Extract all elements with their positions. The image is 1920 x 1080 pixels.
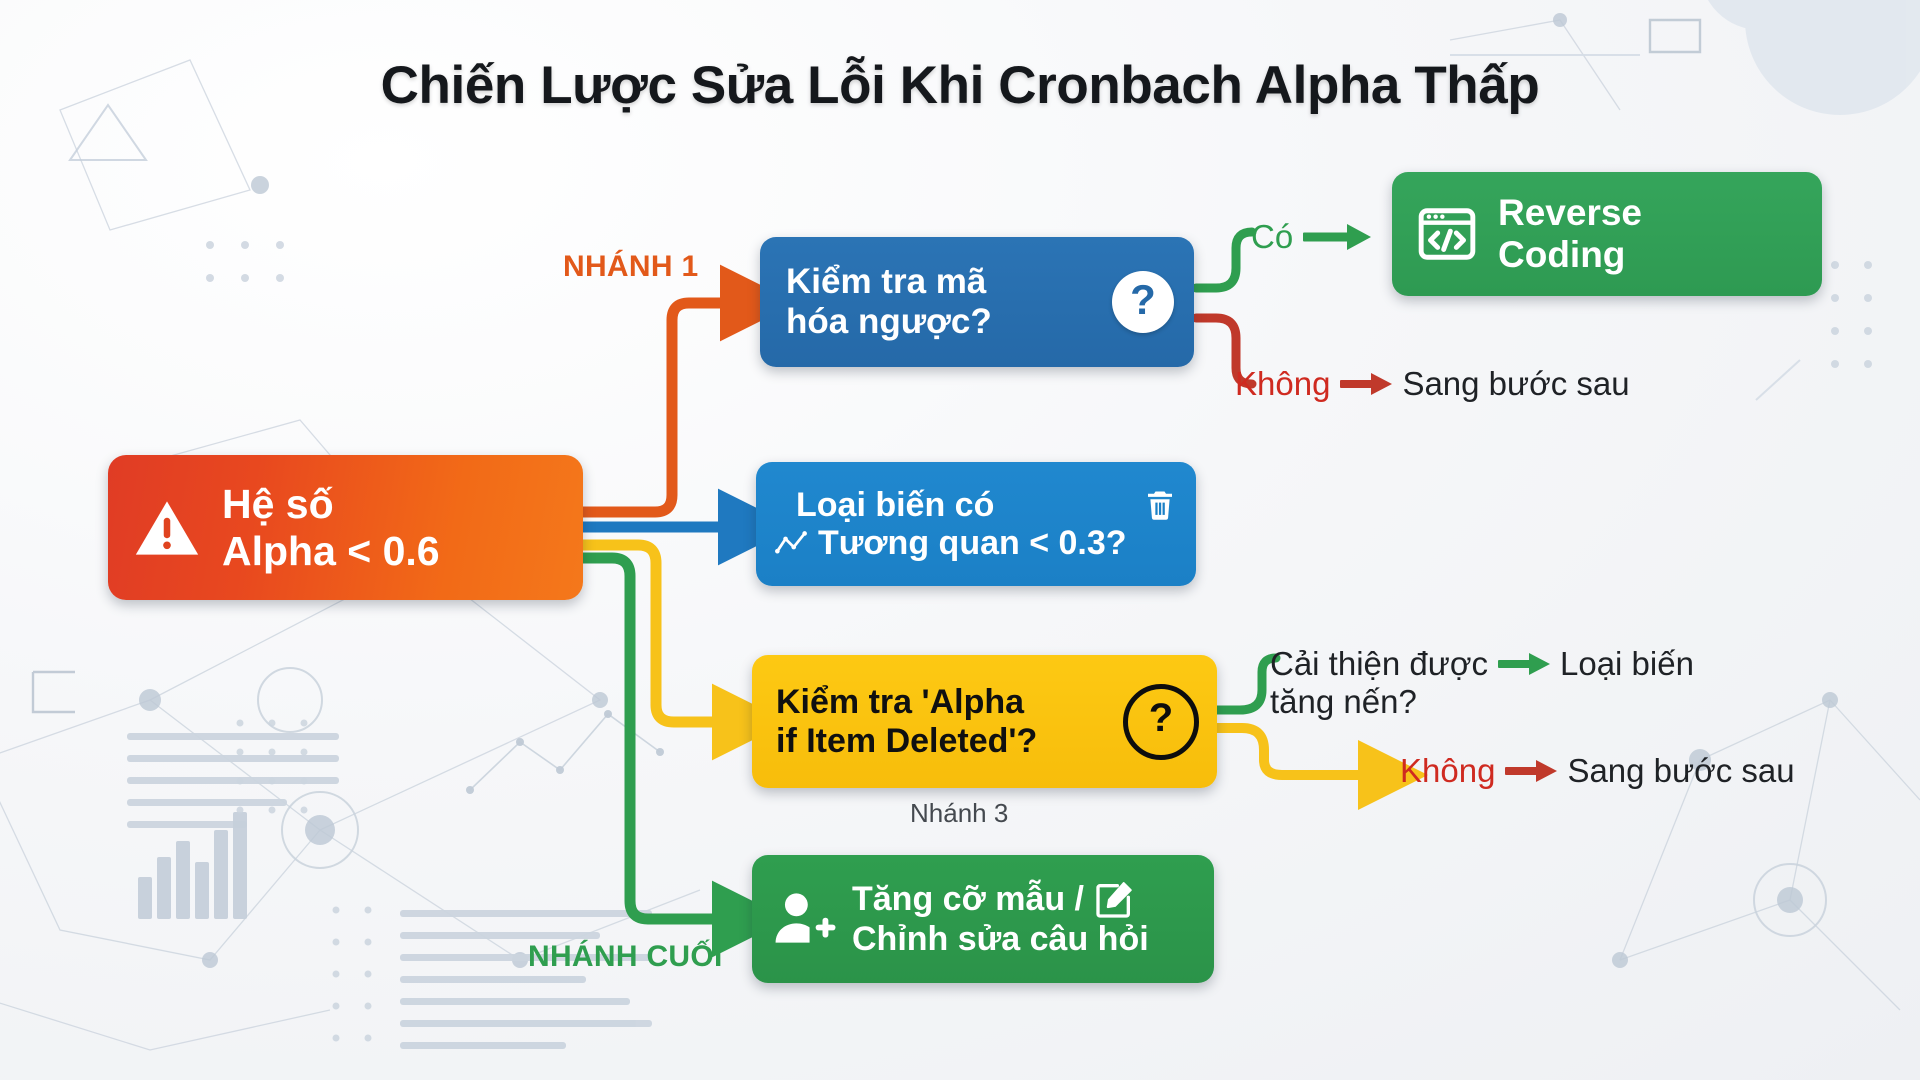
annotation-q3-yes: Cải thiện được Loại biến tăng nến? xyxy=(1270,645,1694,721)
node-start-alpha-low[interactable]: Hệ số Alpha < 0.6 xyxy=(108,455,583,600)
node-q1-label: Kiểm tra mã hóa ngược? xyxy=(786,262,992,342)
question-circle-icon: ? xyxy=(1112,271,1174,333)
annotation-q1-no: Không Sang bước sau xyxy=(1235,365,1630,403)
trash-icon xyxy=(1142,487,1178,523)
node-remove-low-correlation[interactable]: Loại biến có xyxy=(756,462,1196,586)
node-q1-line2: hóa ngược? xyxy=(786,302,992,341)
node-out1-line1: Reverse xyxy=(1498,192,1642,233)
node-reverse-coding[interactable]: Reverse Coding xyxy=(1392,172,1822,296)
annotation-q1-yes: Có xyxy=(1251,218,1371,256)
branch-label-3: Nhánh 3 xyxy=(910,798,1008,829)
annotation-q3-no: Không Sang bước sau xyxy=(1400,752,1795,790)
node-q2-row1: Loại biến có xyxy=(774,486,1178,524)
branch-label-1: NHÁNH 1 xyxy=(563,250,698,284)
node-start-line1: Hệ số xyxy=(222,481,334,527)
annotation-q1-yes-label: Có xyxy=(1251,218,1293,256)
node-q3-line1: Kiểm tra 'Alpha xyxy=(776,683,1024,721)
node-q2-row2: Tương quan < 0.3? xyxy=(774,524,1178,562)
node-q2-line1: Loại biến có xyxy=(796,486,994,524)
code-window-icon xyxy=(1416,205,1478,263)
branch-label-last: NHÁNH CUỐI xyxy=(528,940,723,974)
node-check-alpha-if-item-deleted[interactable]: Kiểm tra 'Alpha if Item Deleted'? ? xyxy=(752,655,1217,788)
node-q4-label: Tăng cỡ mẫu / Chỉnh sửa câu hỏi xyxy=(852,880,1149,959)
annotation-q3-yes-line2: tăng nến? xyxy=(1270,683,1417,721)
node-q2-line2: Tương quan < 0.3? xyxy=(818,524,1127,562)
node-out1-label: Reverse Coding xyxy=(1498,192,1642,276)
arrow-right-red-icon xyxy=(1340,375,1392,393)
arrow-right-green-small-icon xyxy=(1498,655,1550,673)
node-q3-line2: if Item Deleted'? xyxy=(776,722,1037,760)
annotation-q3-no-result: Sang bước sau xyxy=(1567,752,1794,790)
arrow-right-green-icon xyxy=(1303,228,1371,246)
annotation-q1-no-label: Không xyxy=(1235,365,1330,403)
node-q4-line2: Chỉnh sửa câu hỏi xyxy=(852,920,1149,958)
annotation-q3-yes-row1: Cải thiện được Loại biến xyxy=(1270,645,1694,683)
annotation-q3-yes-line1: Cải thiện được xyxy=(1270,645,1488,683)
user-plus-icon xyxy=(772,888,838,950)
node-q1-line1: Kiểm tra mã xyxy=(786,262,986,301)
node-q3-label: Kiểm tra 'Alpha if Item Deleted'? xyxy=(776,683,1037,761)
annotation-q3-no-label: Không xyxy=(1400,752,1495,790)
arrow-right-red-small-icon xyxy=(1505,762,1557,780)
node-start-line2: Alpha < 0.6 xyxy=(222,528,440,574)
node-check-reverse-coding[interactable]: Kiểm tra mã hóa ngược? ? xyxy=(760,237,1194,367)
annotation-q3-yes-result: Loại biến xyxy=(1560,645,1694,683)
warning-triangle-icon xyxy=(130,494,204,562)
node-q4-line1: Tăng cỡ mẫu / xyxy=(852,880,1084,919)
node-increase-sample-or-edit[interactable]: Tăng cỡ mẫu / Chỉnh sửa câu hỏi xyxy=(752,855,1214,983)
edit-square-icon xyxy=(1094,880,1134,920)
diagram-canvas: Chiến Lược Sửa Lỗi Khi Cronbach Alpha Th… xyxy=(0,0,1920,1080)
trend-line-icon xyxy=(774,528,808,558)
node-start-label: Hệ số Alpha < 0.6 xyxy=(222,481,440,574)
question-circle-outline-icon: ? xyxy=(1123,684,1199,760)
node-out1-line2: Coding xyxy=(1498,234,1625,275)
annotation-q1-no-result: Sang bước sau xyxy=(1402,365,1629,403)
